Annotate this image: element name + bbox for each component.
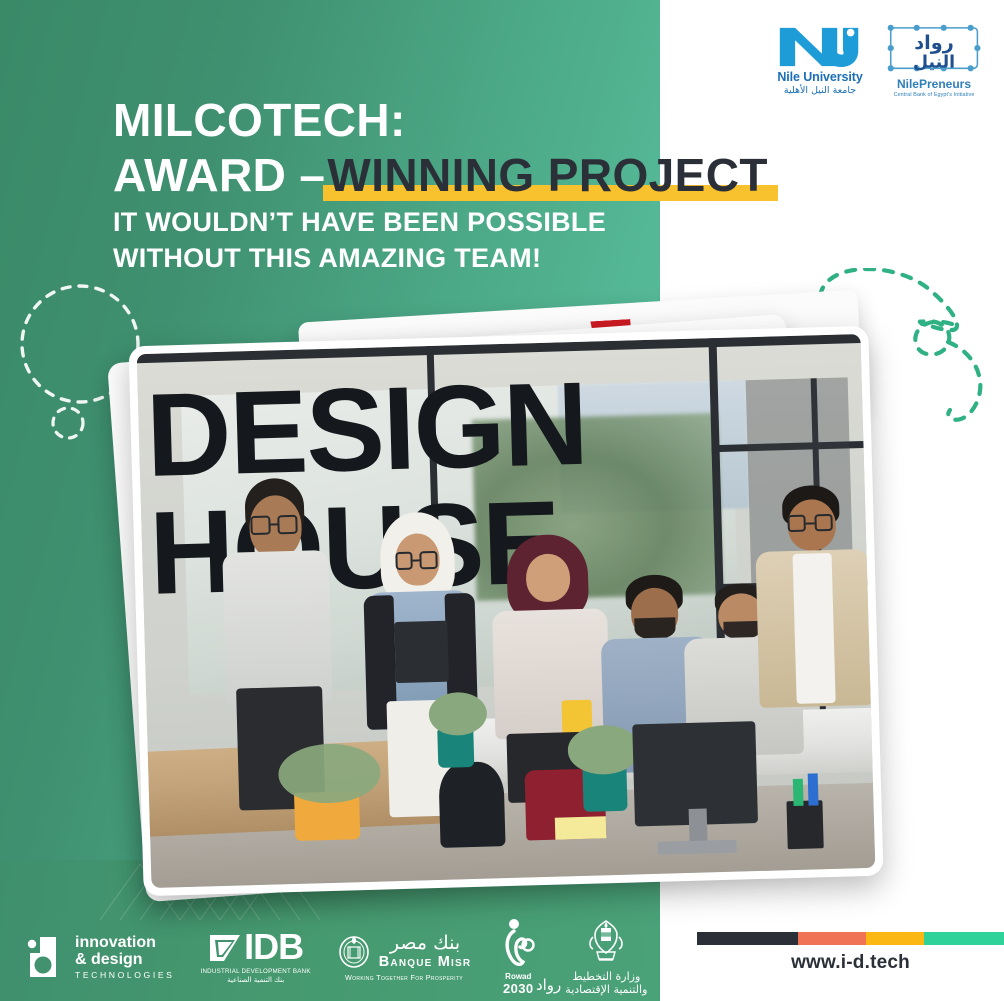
logo-ministry-of-planning: وزارة التخطيط والتنمية الإقتصادية [565, 919, 647, 996]
photo-plant-pot-3 [583, 768, 628, 812]
nilepreneurs-tagline: Central Bank of Egypt's Initiative [882, 92, 986, 98]
rowad-year: 2030 [497, 981, 539, 996]
nu-arabic-name: جامعة النيل الأهلية [772, 85, 868, 96]
rowad-arabic: رواد [536, 976, 561, 994]
nilepreneurs-name: NilePreneurs [882, 77, 986, 91]
idb-wordmark: IDB [200, 931, 310, 965]
poster-canvas: Nile University جامعة النيل الأهلية رواد… [0, 0, 1004, 1001]
subheadline: IT WOULDN’T HAVE BEEN POSSIBLE WITHOUT T… [113, 204, 606, 277]
photo-sticky-note [555, 817, 606, 840]
rowad-figure-icon [497, 918, 539, 968]
website-url[interactable]: www.i-d.tech [697, 952, 1004, 974]
photo-stool [438, 761, 506, 848]
photo-tablet [394, 621, 449, 683]
banque-misr-arabic: بنك مصر [379, 932, 472, 954]
color-bar-segment-coral [798, 932, 866, 945]
svg-text:رواد: رواد [914, 31, 954, 54]
idb-subtitle: INDUSTRIAL DEVELOPMENT BANK [200, 968, 310, 975]
nu-monogram-icon [776, 24, 864, 68]
banque-misr-seal-icon [337, 933, 371, 969]
photo-person-6 [756, 483, 873, 785]
color-bar-segment-dark [697, 932, 798, 945]
logo-nile-university: Nile University جامعة النيل الأهلية [772, 24, 868, 96]
team-photo: DESIGN HOUSE [137, 334, 876, 888]
banque-misr-name: Banque Misr [379, 954, 472, 970]
banque-misr-wordmark: بنك مصر Banque Misr [337, 932, 472, 970]
team-photo-card: DESIGN HOUSE [128, 326, 883, 896]
logo-banque-misr: بنك مصر Banque Misr Working Together For… [337, 932, 472, 982]
logo-nilepreneurs: رواد النيل NilePreneurs Central Bank of … [882, 24, 986, 98]
photo-pen-cup [787, 800, 825, 849]
photo-monitor-base [657, 840, 737, 856]
headline: MILCOTECH: AWARD – WINNING PROJECT [113, 97, 873, 199]
idt-line-2: & design [75, 952, 174, 969]
headline-highlight-text: WINNING PROJECT [327, 149, 767, 201]
partner-logos-footer: innovation & design TECHNOLOGIES IDB IND… [26, 918, 647, 996]
color-bar-segment-mint [924, 932, 1004, 945]
headline-highlight: WINNING PROJECT [327, 152, 767, 199]
photo-card-stack: AWARD [106, 300, 906, 900]
nilepreneurs-arabic-icon: رواد النيل [884, 24, 984, 76]
brand-color-bar [697, 932, 1004, 945]
logo-innovation-design-technologies: innovation & design TECHNOLOGIES [26, 935, 174, 980]
svg-text:النيل: النيل [913, 52, 955, 72]
headline-award-text: AWARD – [113, 152, 325, 199]
rowad-name: Rowad [497, 973, 539, 981]
color-bar-segment-amber [866, 932, 924, 945]
egypt-eagle-emblem-icon [583, 919, 629, 967]
photo-pen-1 [793, 779, 804, 806]
logo-rowad-2030: Rowad 2030 رواد [497, 918, 539, 996]
headline-line-2: AWARD – WINNING PROJECT [113, 152, 873, 199]
idb-arabic: بنك التنمية الصناعية [200, 976, 310, 984]
subheadline-line-2: WITHOUT THIS AMAZING TEAM! [113, 240, 606, 276]
logo-industrial-development-bank: IDB INDUSTRIAL DEVELOPMENT BANK بنك التن… [200, 931, 310, 984]
idb-word: IDB [244, 931, 303, 963]
subheadline-line-1: IT WOULDN’T HAVE BEEN POSSIBLE [113, 204, 606, 240]
headline-line-1: MILCOTECH: [113, 97, 873, 144]
idt-text: innovation & design TECHNOLOGIES [75, 935, 174, 980]
id-dot-monogram-icon [26, 935, 68, 979]
ministry-arabic-line-1: وزارة التخطيط [565, 970, 647, 983]
idt-line-3: TECHNOLOGIES [75, 971, 174, 980]
idt-line-1: innovation [75, 935, 174, 952]
idb-arrow-icon [208, 931, 242, 965]
partner-logos-top: Nile University جامعة النيل الأهلية رواد… [772, 24, 986, 98]
photo-pen-2 [807, 773, 818, 805]
ministry-arabic-line-2: والتنمية الإقتصادية [565, 983, 647, 996]
nu-name: Nile University [772, 70, 868, 84]
banque-misr-tagline: Working Together For Prosperity [337, 973, 472, 982]
